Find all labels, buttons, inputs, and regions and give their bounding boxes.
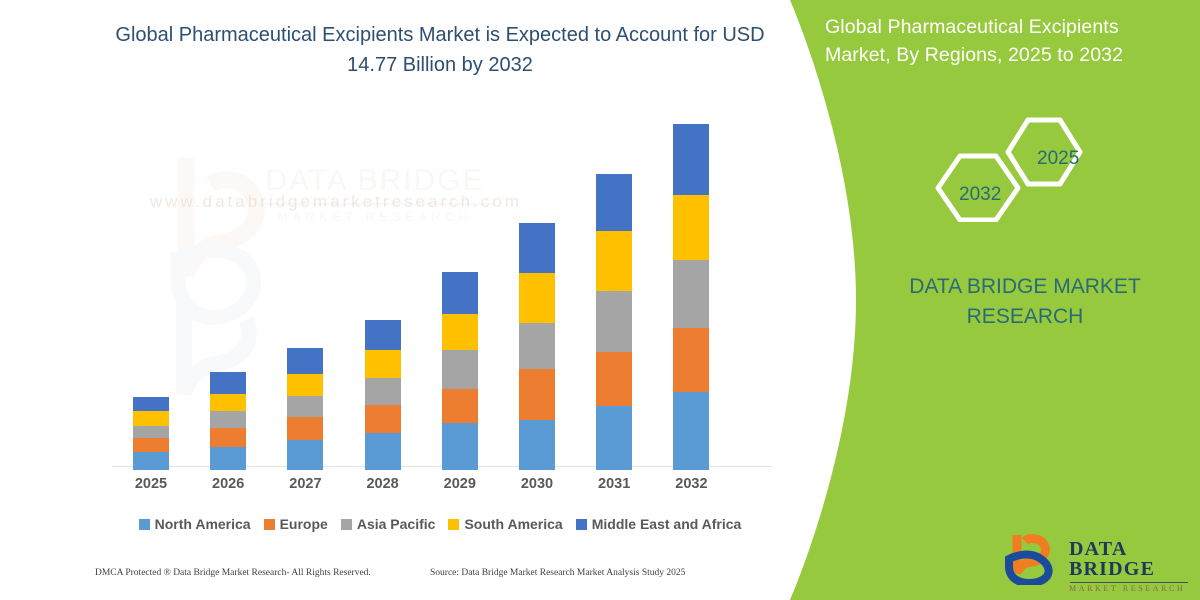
legend-item[interactable]: Europe: [264, 516, 328, 532]
x-axis-labels: 20252026202720282029203020312032: [100, 476, 780, 498]
bar-segment[interactable]: [133, 411, 169, 425]
bar-2030[interactable]: [519, 223, 555, 470]
bar-segment[interactable]: [442, 389, 478, 423]
bar-segment[interactable]: [133, 397, 169, 411]
bar-segment[interactable]: [287, 374, 323, 396]
bar-segment[interactable]: [210, 394, 246, 412]
bar-segment[interactable]: [133, 426, 169, 438]
legend-item[interactable]: Asia Pacific: [341, 516, 436, 532]
bar-segment[interactable]: [210, 372, 246, 393]
legend-swatch-icon: [264, 519, 275, 530]
legend-swatch-icon: [341, 519, 352, 530]
bar-segment[interactable]: [596, 291, 632, 352]
bar-segment[interactable]: [287, 396, 323, 417]
bar-segment[interactable]: [442, 350, 478, 389]
x-axis-label-2027: 2027: [275, 476, 335, 492]
legend-label: North America: [155, 516, 251, 532]
legend-swatch-icon: [139, 519, 150, 530]
bar-2027[interactable]: [287, 348, 323, 470]
bar-segment[interactable]: [133, 438, 169, 452]
bar-segment[interactable]: [133, 452, 169, 470]
bar-2029[interactable]: [442, 272, 478, 470]
bar-segment[interactable]: [596, 174, 632, 231]
footer-copyright: DMCA Protected ® Data Bridge Market Rese…: [95, 568, 371, 578]
x-axis-label-2026: 2026: [198, 476, 258, 492]
bar-chart-plot: [100, 120, 780, 470]
bar-segment[interactable]: [673, 195, 709, 260]
legend-swatch-icon: [576, 519, 587, 530]
brand-logo: DATA BRIDGE MARKET RESEARCH: [1005, 533, 1195, 589]
legend-swatch-icon: [448, 519, 459, 530]
bar-segment[interactable]: [287, 440, 323, 470]
logo-wordmark: DATA BRIDGE MARKET RESEARCH: [1069, 539, 1195, 593]
logo-subtitle: MARKET RESEARCH: [1069, 585, 1195, 593]
x-axis-label-2025: 2025: [121, 476, 181, 492]
x-axis-label-2030: 2030: [507, 476, 567, 492]
bar-segment[interactable]: [365, 378, 401, 405]
legend-label: Europe: [280, 516, 328, 532]
regions-panel: Global Pharmaceutical Excipients Market,…: [760, 0, 1200, 600]
bar-segment[interactable]: [365, 433, 401, 470]
panel-brand: DATA BRIDGE MARKET RESEARCH: [880, 272, 1170, 332]
page-title: Global Pharmaceutical Excipients Market …: [110, 20, 770, 80]
footer: DMCA Protected ® Data Bridge Market Rese…: [0, 568, 790, 590]
bar-segment[interactable]: [519, 273, 555, 323]
x-axis-label-2029: 2029: [430, 476, 490, 492]
bar-segment[interactable]: [365, 405, 401, 434]
bar-segment[interactable]: [210, 428, 246, 447]
bar-segment[interactable]: [287, 417, 323, 440]
infographic-root: Global Pharmaceutical Excipients Market …: [0, 0, 1200, 600]
bar-segment[interactable]: [210, 411, 246, 428]
bar-segment[interactable]: [596, 231, 632, 292]
legend-item[interactable]: Middle East and Africa: [576, 516, 742, 532]
footer-source: Source: Data Bridge Market Research Mark…: [430, 568, 685, 578]
bar-2028[interactable]: [365, 320, 401, 470]
legend-label: Middle East and Africa: [592, 516, 742, 532]
legend-label: South America: [464, 516, 562, 532]
bar-segment[interactable]: [673, 260, 709, 328]
x-axis-label-2028: 2028: [353, 476, 413, 492]
bar-2031[interactable]: [596, 174, 632, 470]
bar-segment[interactable]: [365, 350, 401, 378]
panel-title: Global Pharmaceutical Excipients Market,…: [825, 14, 1175, 69]
bar-segment[interactable]: [596, 352, 632, 405]
bar-segment[interactable]: [210, 447, 246, 470]
hexagon-group: 2025 2032: [930, 112, 1110, 222]
bar-segment[interactable]: [519, 223, 555, 273]
bar-segment[interactable]: [287, 348, 323, 374]
bar-2032[interactable]: [673, 124, 709, 470]
legend-item[interactable]: North America: [139, 516, 251, 532]
logo-title: DATA BRIDGE: [1069, 539, 1195, 579]
bar-segment[interactable]: [442, 314, 478, 351]
bar-segment[interactable]: [673, 328, 709, 392]
hex-label-end: 2032: [959, 184, 1001, 206]
bar-segment[interactable]: [673, 392, 709, 470]
x-axis-label-2031: 2031: [584, 476, 644, 492]
bar-segment[interactable]: [673, 124, 709, 195]
bar-segment[interactable]: [442, 272, 478, 314]
bar-segment[interactable]: [519, 323, 555, 370]
hexagon-icon: [930, 112, 1110, 222]
x-axis-label-2032: 2032: [661, 476, 721, 492]
bar-segment[interactable]: [596, 406, 632, 470]
bar-segment[interactable]: [519, 369, 555, 420]
legend-item[interactable]: South America: [448, 516, 562, 532]
bar-segment[interactable]: [365, 320, 401, 350]
databridge-b-icon: [1005, 533, 1065, 585]
logo-rule: [1070, 582, 1188, 583]
bar-segment[interactable]: [442, 423, 478, 470]
legend-label: Asia Pacific: [357, 516, 436, 532]
bar-2025[interactable]: [133, 397, 169, 470]
chart-legend: North AmericaEuropeAsia PacificSouth Ame…: [100, 512, 780, 536]
bar-2026[interactable]: [210, 372, 246, 470]
hex-label-start: 2025: [1037, 148, 1079, 170]
bar-segment[interactable]: [519, 420, 555, 470]
